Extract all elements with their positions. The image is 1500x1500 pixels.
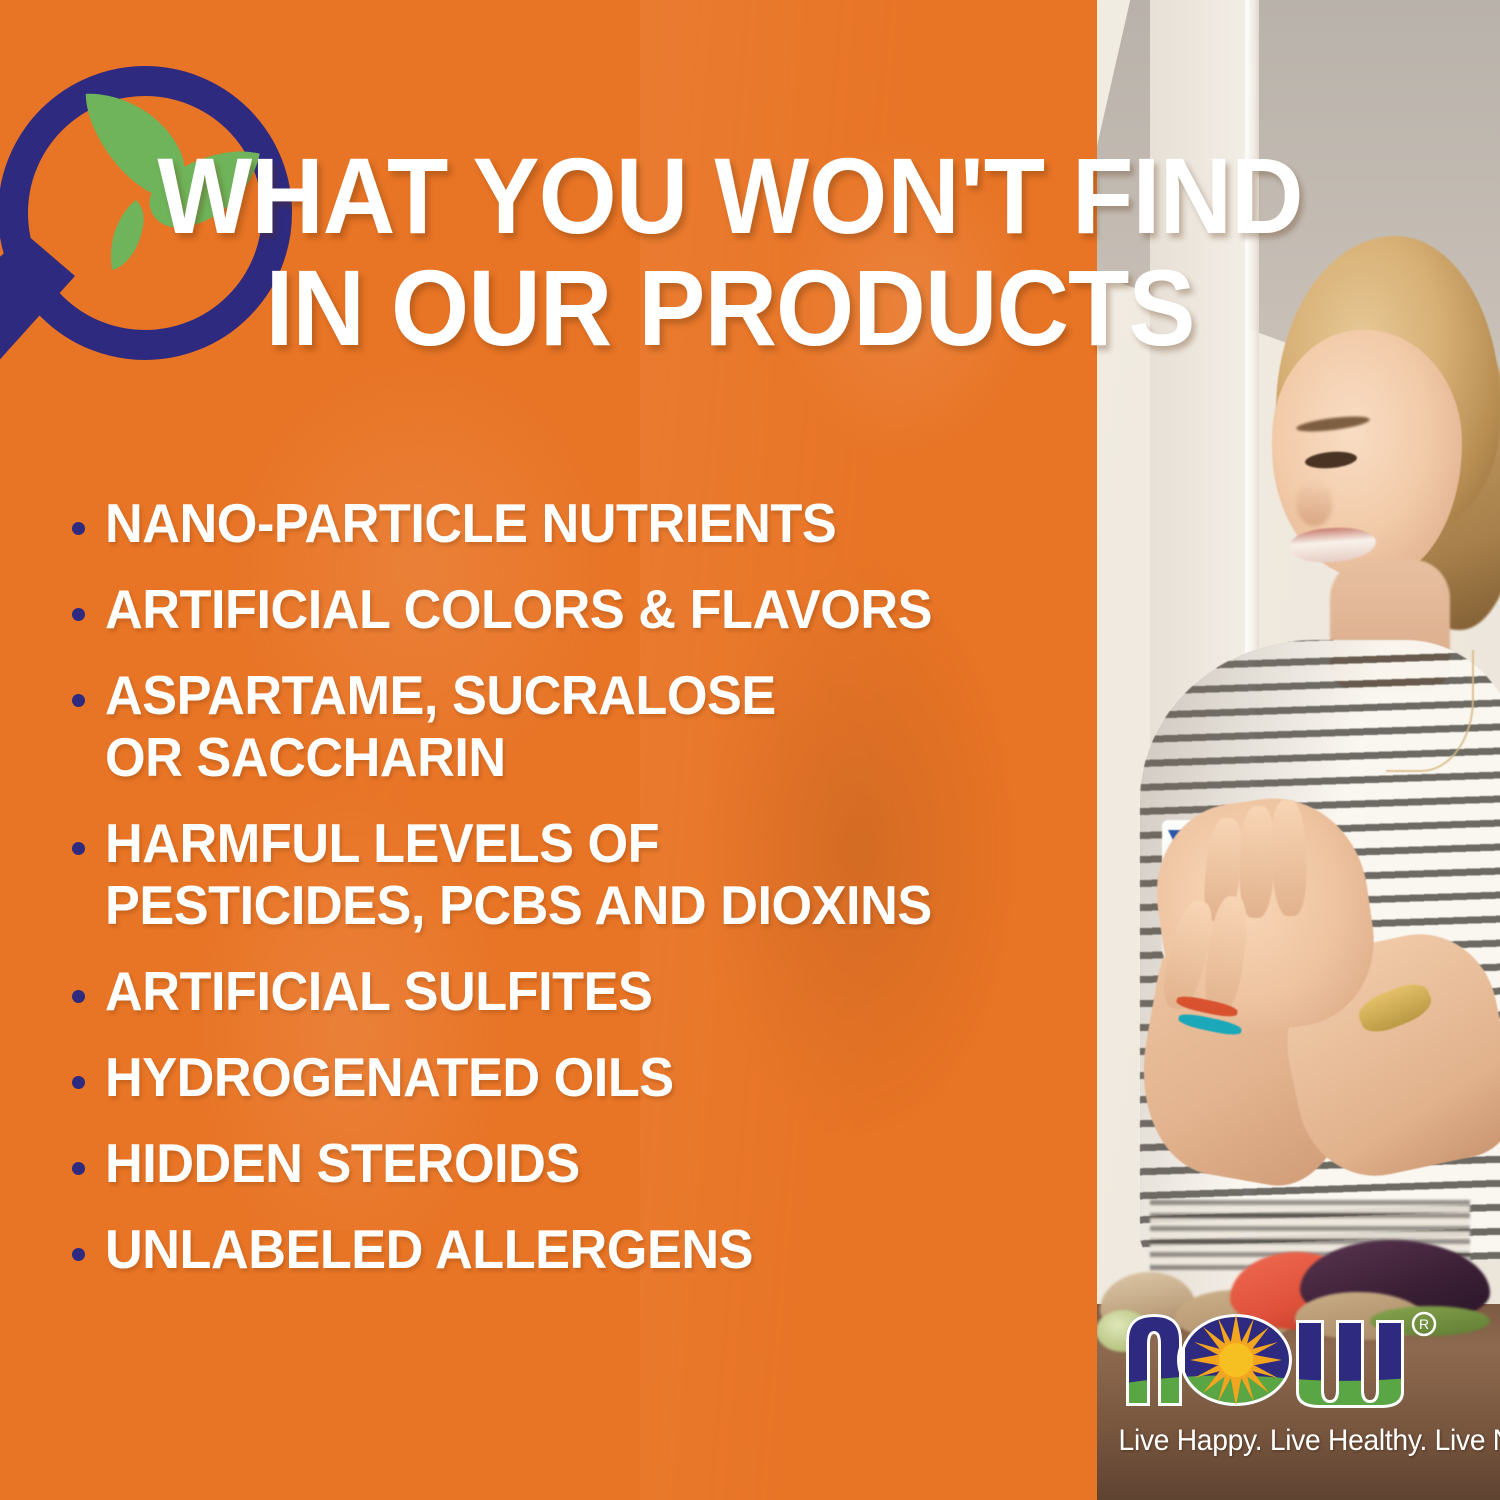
bullet-dot-icon xyxy=(72,608,85,621)
brand-tagline: Live Happy. Live Healthy. Live NOW. xyxy=(1119,1424,1450,1458)
headline-line-1: WHAT YOU WON'T FIND xyxy=(51,140,1409,252)
list-item-label: NANO-PARTICLE NUTRIENTS xyxy=(105,492,836,554)
list-item: ARTIFICIAL COLORS & FLAVORS xyxy=(72,578,1082,640)
list-item-label: HYDROGENATED OILS xyxy=(105,1046,674,1108)
list-item: UNLABELED ALLERGENS xyxy=(72,1218,1082,1280)
bullet-dot-icon xyxy=(72,1162,85,1175)
list-item: HYDROGENATED OILS xyxy=(72,1046,1082,1108)
headline-emphasis: WON'T xyxy=(714,135,1045,256)
bullet-dot-icon xyxy=(72,522,85,535)
now-green-hills xyxy=(1118,1372,1448,1420)
sun-core xyxy=(1219,1343,1253,1377)
list-item: HARMFUL LEVELS OF PESTICIDES, PCBS AND D… xyxy=(72,812,1082,936)
list-item-label: ARTIFICIAL COLORS & FLAVORS xyxy=(105,578,932,640)
headline-part-1: WHAT YOU xyxy=(157,135,714,256)
bullet-dot-icon xyxy=(72,1076,85,1089)
infographic-canvas: WHAT YOU WON'T FIND IN OUR PRODUCTS NANO… xyxy=(0,0,1500,1500)
list-item-label: HARMFUL LEVELS OF PESTICIDES, PCBS AND D… xyxy=(105,812,932,936)
list-item-label: ASPARTAME, SUCRALOSE OR SACCHARIN xyxy=(105,664,776,788)
svg-text:R: R xyxy=(1419,1316,1429,1332)
list-item-label: UNLABELED ALLERGENS xyxy=(105,1218,753,1280)
list-item-label: ARTIFICIAL SULFITES xyxy=(105,960,652,1022)
list-item: ASPARTAME, SUCRALOSE OR SACCHARIN xyxy=(72,664,1082,788)
now-brand-logo: R xyxy=(1118,1300,1448,1420)
nose xyxy=(1296,480,1332,526)
list-item: HIDDEN STEROIDS xyxy=(72,1132,1082,1194)
headline-line-2: IN OUR PRODUCTS xyxy=(51,252,1409,364)
exclusions-list: NANO-PARTICLE NUTRIENTS ARTIFICIAL COLOR… xyxy=(72,492,1082,1304)
headline-part-2: FIND xyxy=(1045,135,1303,256)
bullet-dot-icon xyxy=(72,990,85,1003)
sunburst-icon xyxy=(1190,1314,1282,1406)
list-item: NANO-PARTICLE NUTRIENTS xyxy=(72,492,1082,554)
list-item: ARTIFICIAL SULFITES xyxy=(72,960,1082,1022)
bullet-dot-icon xyxy=(72,694,85,707)
page-title: WHAT YOU WON'T FIND IN OUR PRODUCTS xyxy=(0,140,1460,364)
bullet-dot-icon xyxy=(72,1248,85,1261)
registered-trademark-icon: R xyxy=(1413,1313,1435,1335)
list-item-label: HIDDEN STEROIDS xyxy=(105,1132,580,1194)
bullet-dot-icon xyxy=(72,842,85,855)
